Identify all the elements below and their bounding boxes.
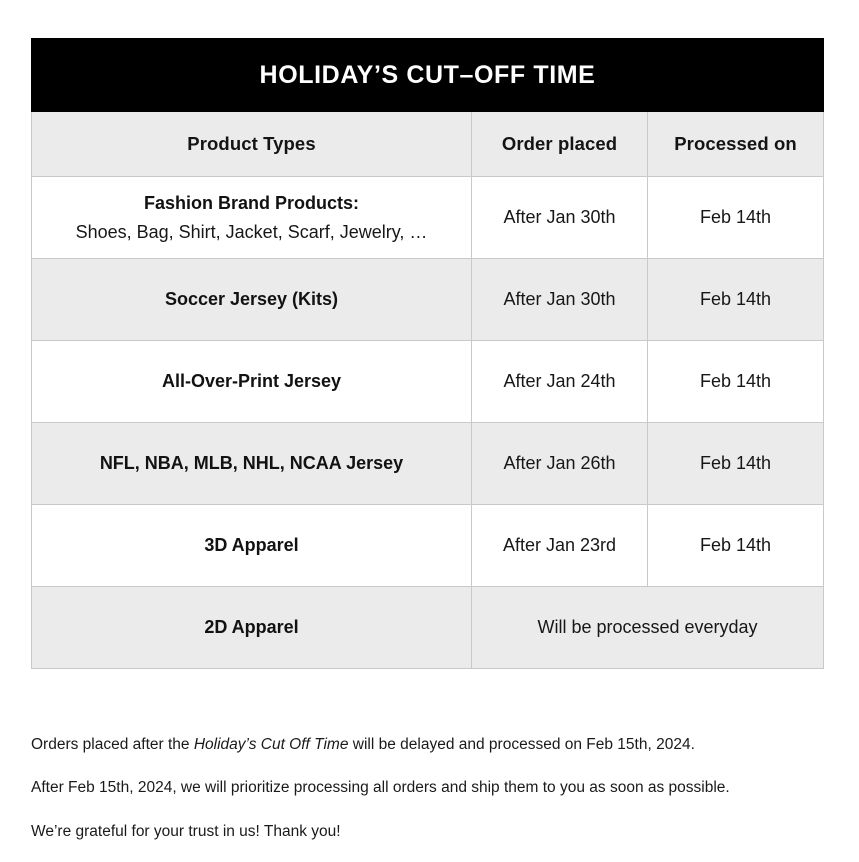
table-header-row: Product Types Order placed Processed on <box>32 112 824 177</box>
column-header-order-placed: Order placed <box>472 112 648 177</box>
product-type-subtitle: Shoes, Bag, Shirt, Jacket, Scarf, Jewelr… <box>40 219 463 245</box>
table-row: Soccer Jersey (Kits) After Jan 30th Feb … <box>32 259 824 341</box>
table-row: Fashion Brand Products: Shoes, Bag, Shir… <box>32 177 824 259</box>
cell-order-placed: After Jan 26th <box>472 423 648 505</box>
cell-processed-on: Feb 14th <box>648 259 824 341</box>
table-title-cell: HOLIDAY’S CUT–OFF TIME <box>32 39 824 112</box>
cell-processed-on: Feb 14th <box>648 423 824 505</box>
table-title-row: HOLIDAY’S CUT–OFF TIME <box>32 39 824 112</box>
cell-product-type: All-Over-Print Jersey <box>32 341 472 423</box>
cell-product-type: 2D Apparel <box>32 587 472 669</box>
cell-product-type: Soccer Jersey (Kits) <box>32 259 472 341</box>
cutoff-time-page: HOLIDAY’S CUT–OFF TIME Product Types Ord… <box>0 0 859 862</box>
cell-product-type: 3D Apparel <box>32 505 472 587</box>
table-row: 3D Apparel After Jan 23rd Feb 14th <box>32 505 824 587</box>
cutoff-table-container: HOLIDAY’S CUT–OFF TIME Product Types Ord… <box>31 38 823 669</box>
note-line-1-emphasis: Holiday’s Cut Off Time <box>194 736 349 753</box>
table-row: 2D Apparel Will be processed everyday <box>32 587 824 669</box>
cell-processed-on: Feb 14th <box>648 505 824 587</box>
cell-product-type: Fashion Brand Products: Shoes, Bag, Shir… <box>32 177 472 259</box>
cell-order-placed: After Jan 24th <box>472 341 648 423</box>
cell-product-type: NFL, NBA, MLB, NHL, NCAA Jersey <box>32 423 472 505</box>
table-row: All-Over-Print Jersey After Jan 24th Feb… <box>32 341 824 423</box>
column-header-processed-on: Processed on <box>648 112 824 177</box>
note-line-1-before: Orders placed after the <box>31 736 194 753</box>
column-header-product-types: Product Types <box>32 112 472 177</box>
cell-processed-on: Feb 14th <box>648 341 824 423</box>
cutoff-table: HOLIDAY’S CUT–OFF TIME Product Types Ord… <box>31 38 824 669</box>
note-line-2: After Feb 15th, 2024, we will prioritize… <box>31 778 841 797</box>
note-line-1: Orders placed after the Holiday’s Cut Of… <box>31 735 841 754</box>
page-title: HOLIDAY’S CUT–OFF TIME <box>32 39 823 111</box>
cell-order-placed: After Jan 30th <box>472 177 648 259</box>
product-type-title: Fashion Brand Products: <box>40 190 463 216</box>
note-line-1-after: will be delayed and processed on Feb 15t… <box>348 736 694 753</box>
note-line-3: We’re grateful for your trust in us! Tha… <box>31 822 841 841</box>
footer-notes: Orders placed after the Holiday’s Cut Of… <box>31 735 841 841</box>
cell-order-placed: After Jan 23rd <box>472 505 648 587</box>
table-row: NFL, NBA, MLB, NHL, NCAA Jersey After Ja… <box>32 423 824 505</box>
cell-merged-schedule: Will be processed everyday <box>472 587 824 669</box>
cell-order-placed: After Jan 30th <box>472 259 648 341</box>
cell-processed-on: Feb 14th <box>648 177 824 259</box>
